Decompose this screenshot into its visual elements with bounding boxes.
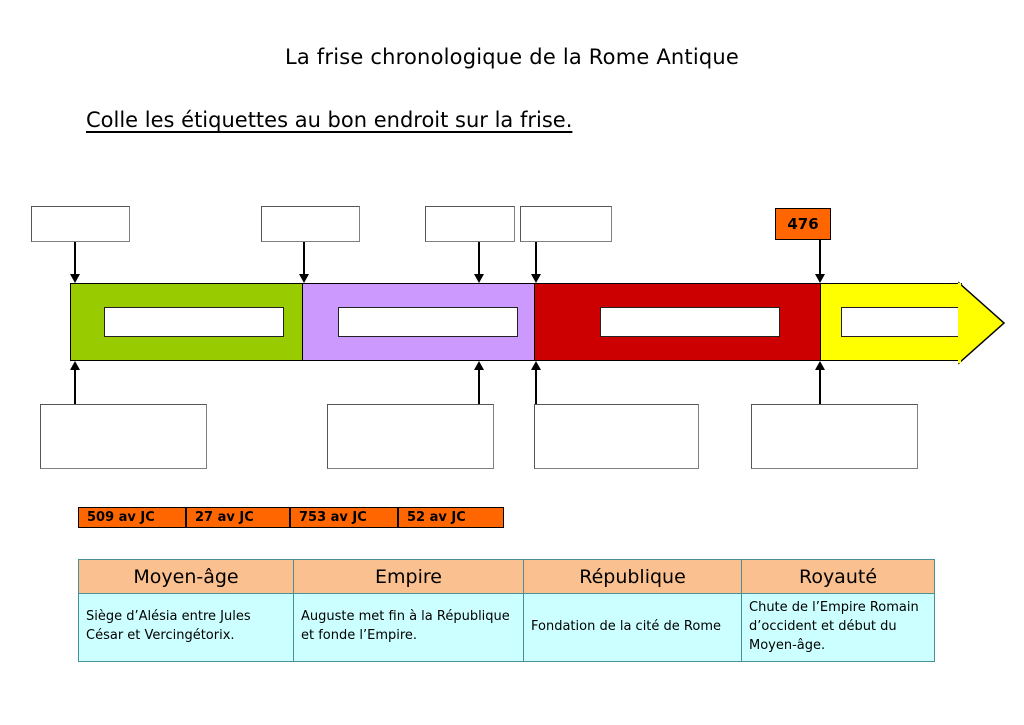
top-box-1[interactable] — [31, 206, 130, 242]
top-box-2[interactable] — [261, 206, 360, 242]
bottom-box-3[interactable] — [534, 404, 699, 469]
bottom-box-4[interactable] — [751, 404, 918, 469]
table-header-moyen-age: Moyen-âge — [79, 560, 294, 594]
table-header-royaute: Royauté — [742, 560, 935, 594]
top-box-4[interactable] — [520, 206, 612, 242]
table-cell-auguste-empire: Auguste met fin à la République et fonde… — [294, 594, 524, 662]
segment-green — [70, 283, 303, 361]
table-cell-siege-alesia: Siège d’Alésia entre Jules César et Verc… — [79, 594, 294, 662]
table-header-republique: République — [524, 560, 742, 594]
inline-box-2[interactable] — [338, 307, 518, 337]
table-cell-chute-empire: Chute de l’Empire Romain d’occident et d… — [742, 594, 935, 662]
marker-chip-476[interactable]: 476 — [775, 208, 831, 240]
table-cell-fondation-rome: Fondation de la cité de Rome — [524, 594, 742, 662]
segment-purple — [302, 283, 535, 361]
date-chip-1[interactable]: 509 av JC — [78, 507, 186, 528]
table-row: Siège d’Alésia entre Jules César et Verc… — [79, 594, 935, 662]
inline-box-4[interactable] — [841, 307, 961, 337]
top-box-3[interactable] — [425, 206, 515, 242]
reference-table: Moyen-âge Empire République Royauté Sièg… — [78, 559, 935, 662]
date-chip-2[interactable]: 27 av JC — [186, 507, 290, 528]
timeline-arrow-tip — [958, 281, 1006, 365]
inline-box-1[interactable] — [104, 307, 284, 337]
segment-yellow — [820, 283, 962, 361]
bottom-box-1[interactable] — [40, 404, 207, 469]
instruction-text: Colle les étiquettes au bon endroit sur … — [86, 108, 572, 132]
inline-box-3[interactable] — [600, 307, 780, 337]
date-chip-4[interactable]: 52 av JC — [398, 507, 504, 528]
table-header-empire: Empire — [294, 560, 524, 594]
page-title: La frise chronologique de la Rome Antiqu… — [0, 45, 1024, 69]
bottom-box-2[interactable] — [327, 404, 494, 469]
segment-red — [534, 283, 821, 361]
table-header-row: Moyen-âge Empire République Royauté — [79, 560, 935, 594]
date-chip-3[interactable]: 753 av JC — [290, 507, 398, 528]
worksheet-page: La frise chronologique de la Rome Antiqu… — [0, 0, 1024, 725]
